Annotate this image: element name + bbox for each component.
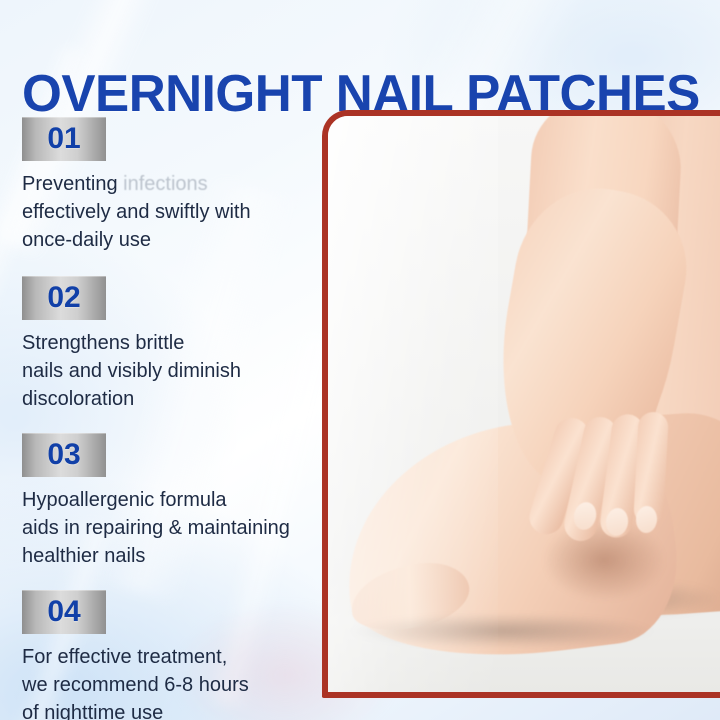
feature-text: For effective treatment, we recommend 6-… — [22, 643, 322, 720]
feature-number-badge: 04 — [22, 590, 106, 634]
feature-item: 04 For effective treatment, we recommend… — [0, 590, 330, 720]
feature-text: Hypoallergenic formula aids in repairing… — [22, 486, 322, 570]
feature-number: 01 — [47, 122, 80, 156]
feature-number: 02 — [47, 281, 80, 315]
feature-number: 03 — [47, 438, 80, 472]
feature-text-rest: effectively and swiftly with once-daily … — [22, 201, 251, 251]
feet-photo — [328, 116, 720, 692]
feature-text-faded-word: infections — [123, 173, 208, 195]
feature-item: 03 Hypoallergenic formula aids in repair… — [0, 433, 330, 570]
feature-list: 01 Preventing infections effectively and… — [0, 110, 330, 720]
feature-number: 04 — [47, 595, 80, 629]
feature-text: Preventing infections effectively and sw… — [22, 170, 322, 254]
feature-item: 01 Preventing infections effectively and… — [0, 117, 330, 254]
feature-number-badge: 01 — [22, 117, 106, 161]
feature-number-badge: 02 — [22, 276, 106, 320]
feature-item: 02 Strengthens brittle nails and visibly… — [0, 276, 330, 413]
product-infographic: OVERNIGHT NAIL PATCHES 01 Preventing inf… — [0, 0, 720, 720]
feature-number-badge: 03 — [22, 433, 106, 477]
product-photo-panel — [322, 110, 720, 698]
feature-text: Strengthens brittle nails and visibly di… — [22, 329, 322, 413]
feature-text-lead: Preventing — [22, 173, 123, 195]
foot-shadow — [352, 614, 652, 648]
